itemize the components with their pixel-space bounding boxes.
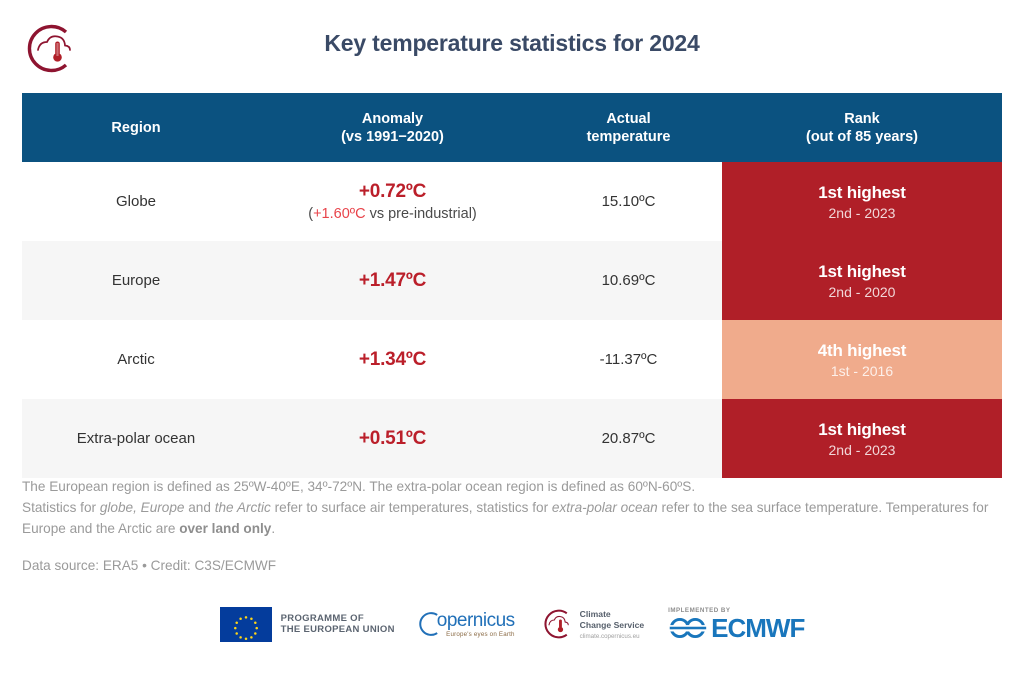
footnote-line-1: The European region is defined as 25ºW-4… [22, 476, 1007, 497]
page-title: Key temperature statistics for 2024 [0, 30, 1024, 57]
anomaly-value: +0.72ºC [359, 181, 426, 203]
rank-value: 1st highest [818, 262, 906, 282]
footnote-bold-over-land-only: over land only [179, 521, 271, 536]
footnote-em-globe-europe: globe, Europe [100, 500, 185, 515]
column-header-rank-line1: Rank [844, 110, 879, 128]
c3s-logo-line2: Change Service [580, 620, 644, 631]
column-header-rank: Rank (out of 85 years) [722, 93, 1002, 162]
rank-previous: 2nd - 2020 [829, 284, 896, 300]
copernicus-wordmark: opernicus [437, 611, 515, 631]
cell-rank: 1st highest 2nd - 2023 [722, 399, 1002, 478]
rank-previous: 1st - 2016 [831, 363, 893, 379]
region-label: Extra-polar ocean [77, 430, 195, 447]
region-label: Arctic [117, 351, 155, 368]
table-row: Arctic +1.34ºC -11.37ºC 4th highest 1st … [22, 320, 1002, 399]
anomaly-subnote-rest: vs pre-industrial) [366, 206, 477, 222]
cell-actual-temperature: 10.69ºC [535, 241, 722, 320]
rank-value: 1st highest [818, 183, 906, 203]
ecmwf-wordmark: ECMWF [711, 615, 804, 641]
table-row: Extra-polar ocean +0.51ºC 20.87ºC 1st hi… [22, 399, 1002, 478]
rank-value: 1st highest [818, 420, 906, 440]
cell-anomaly: +0.51ºC [250, 399, 535, 478]
column-header-anomaly-line1: Anomaly [362, 110, 423, 128]
infographic-page: Key temperature statistics for 2024 Regi… [0, 0, 1024, 674]
c3s-thermometer-cloud-icon [539, 608, 575, 640]
footer-logos: PROGRAMME OF THE EUROPEAN UNION opernicu… [0, 598, 1024, 650]
ecmwf-logo-block: IMPLEMENTED BY ECMWF [668, 607, 804, 641]
c3s-logo-block: Climate Change Service climate.copernicu… [539, 608, 644, 640]
region-label: Europe [112, 272, 160, 289]
c3s-logo-line1: Climate [580, 609, 644, 620]
actual-temperature-value: 15.10ºC [602, 193, 656, 210]
cell-actual-temperature: 15.10ºC [535, 162, 722, 241]
cell-anomaly: +1.34ºC [250, 320, 535, 399]
cell-region: Arctic [22, 320, 250, 399]
eu-logo-line1: PROGRAMME OF [281, 613, 395, 625]
footnote-line-2: Statistics for globe, Europe and the Arc… [22, 497, 1007, 539]
eu-logo-text: PROGRAMME OF THE EUROPEAN UNION [281, 613, 395, 636]
cell-region: Extra-polar ocean [22, 399, 250, 478]
footnote-seg-a: Statistics for [22, 500, 100, 515]
anomaly-subnote: (+1.60ºC vs pre-industrial) [308, 206, 477, 222]
eu-logo-line2: THE EUROPEAN UNION [281, 624, 395, 636]
cell-rank: 4th highest 1st - 2016 [722, 320, 1002, 399]
ecmwf-globe-icon [668, 616, 708, 640]
copernicus-c-icon [419, 611, 439, 637]
cell-rank: 1st highest 2nd - 2020 [722, 241, 1002, 320]
data-source-credit: Data source: ERA5 • Credit: C3S/ECMWF [22, 558, 276, 573]
footnote-em-extra-polar-ocean: extra-polar ocean [552, 500, 658, 515]
anomaly-value: +0.51ºC [359, 428, 426, 450]
region-label: Globe [116, 193, 156, 210]
cell-region: Globe [22, 162, 250, 241]
actual-temperature-value: -11.37ºC [600, 351, 658, 368]
column-header-rank-line2: (out of 85 years) [806, 128, 918, 146]
anomaly-value: +1.47ºC [359, 270, 426, 292]
table-header-row: Region Anomaly (vs 1991−2020) Actual tem… [22, 93, 1002, 162]
copernicus-logo-text: opernicus Europe's eyes on Earth [437, 611, 515, 638]
actual-temperature-value: 20.87ºC [602, 430, 656, 447]
column-header-anomaly: Anomaly (vs 1991−2020) [250, 93, 535, 162]
cell-rank: 1st highest 2nd - 2023 [722, 162, 1002, 241]
cell-anomaly: +1.47ºC [250, 241, 535, 320]
copernicus-logo-block: opernicus Europe's eyes on Earth [419, 611, 515, 638]
actual-temperature-value: 10.69ºC [602, 272, 656, 289]
column-header-region: Region [22, 93, 250, 162]
footnote-seg-c: refer to surface air temperatures, stati… [271, 500, 552, 515]
c3s-logo-text: Climate Change Service climate.copernicu… [580, 609, 644, 640]
cell-actual-temperature: -11.37ºC [535, 320, 722, 399]
column-header-anomaly-line2: (vs 1991−2020) [341, 128, 444, 146]
rank-previous: 2nd - 2023 [829, 442, 896, 458]
ecmwf-logo-row: ECMWF [668, 615, 804, 641]
c3s-logo-url: climate.copernicus.eu [580, 633, 644, 640]
footnote-seg-e: . [271, 521, 275, 536]
footnote-seg-b: and [184, 500, 214, 515]
cell-anomaly: +0.72ºC (+1.60ºC vs pre-industrial) [250, 162, 535, 241]
cell-region: Europe [22, 241, 250, 320]
column-header-actual-line1: Actual [606, 110, 650, 128]
table-row: Europe +1.47ºC 10.69ºC 1st highest 2nd -… [22, 241, 1002, 320]
anomaly-value: +1.34ºC [359, 349, 426, 371]
statistics-table: Region Anomaly (vs 1991−2020) Actual tem… [22, 93, 1002, 478]
footnotes: The European region is defined as 25ºW-4… [22, 476, 1007, 539]
eu-logo-block: PROGRAMME OF THE EUROPEAN UNION [220, 607, 395, 642]
table-row: Globe +0.72ºC (+1.60ºC vs pre-industrial… [22, 162, 1002, 241]
rank-previous: 2nd - 2023 [829, 205, 896, 221]
header: Key temperature statistics for 2024 [0, 0, 1024, 92]
cell-actual-temperature: 20.87ºC [535, 399, 722, 478]
column-header-actual-line2: temperature [587, 128, 671, 146]
column-header-actual: Actual temperature [535, 93, 722, 162]
column-header-region-line1: Region [111, 119, 160, 137]
eu-flag-icon [220, 607, 272, 642]
rank-value: 4th highest [818, 341, 906, 361]
copernicus-tagline: Europe's eyes on Earth [437, 631, 515, 638]
anomaly-subnote-value: +1.60ºC [313, 206, 365, 222]
footnote-em-arctic: the Arctic [215, 500, 271, 515]
